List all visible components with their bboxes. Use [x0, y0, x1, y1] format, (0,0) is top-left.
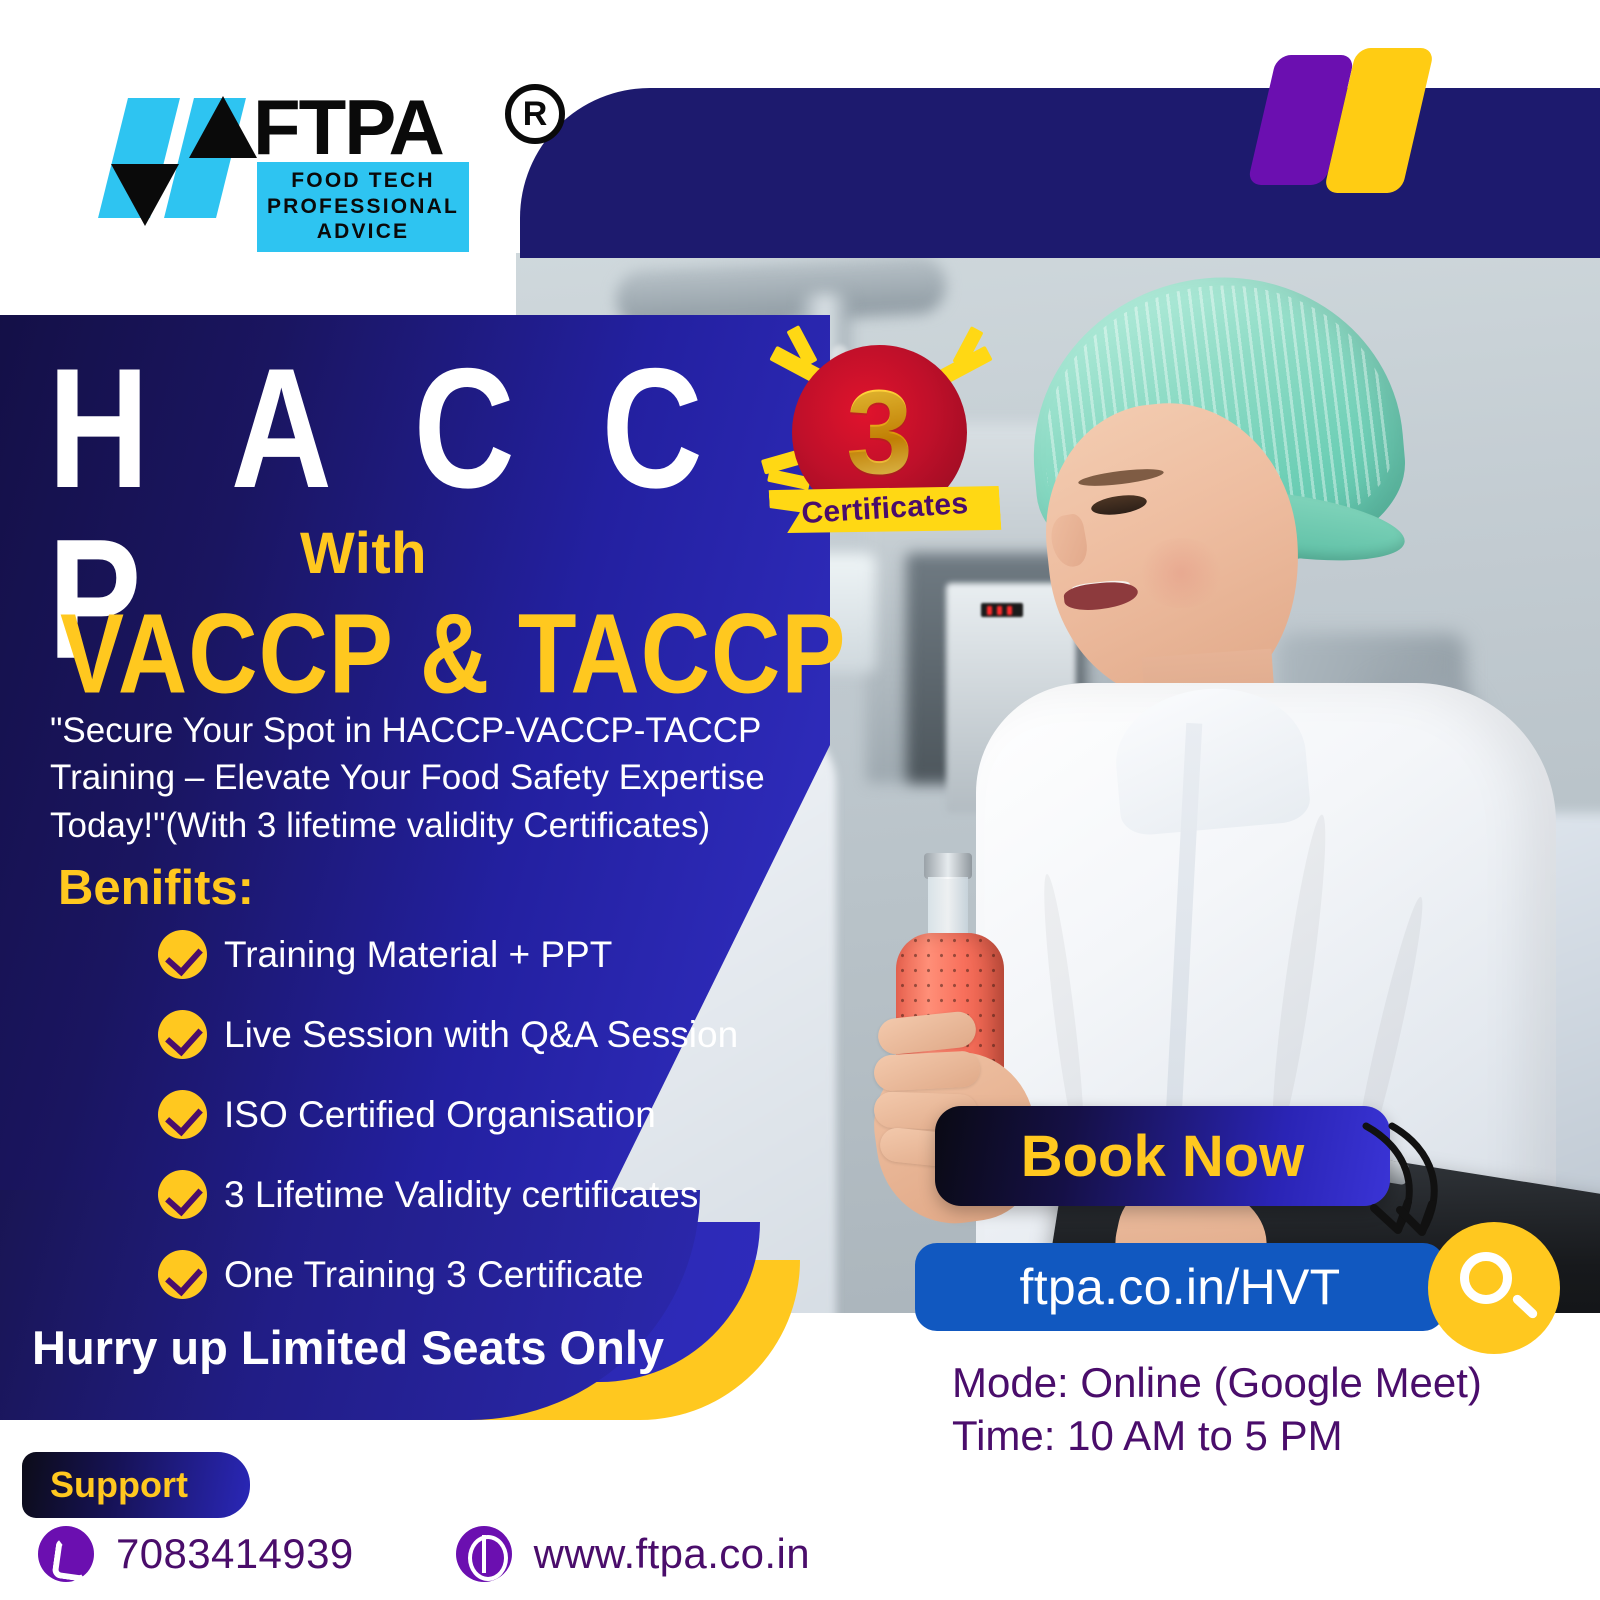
list-item: One Training 3 Certificate: [158, 1250, 858, 1299]
logo-triangle-down-icon: [111, 164, 179, 226]
session-details: Mode: Online (Google Meet) Time: 10 AM t…: [952, 1356, 1482, 1463]
ftpa-logo: FTPA R FOOD TECH PROFESSIONAL ADVICE: [105, 78, 485, 238]
check-circle-icon: [158, 1010, 207, 1059]
benefit-label: 3 Lifetime Validity certificates: [224, 1174, 698, 1216]
phone-icon: [38, 1526, 94, 1582]
support-label: Support: [50, 1464, 188, 1506]
check-circle-icon: [158, 1250, 207, 1299]
book-now-button[interactable]: Book Now: [935, 1106, 1390, 1206]
booking-url-bar[interactable]: ftpa.co.in/HVT: [915, 1243, 1445, 1331]
logo-tagline-line2: PROFESSIONAL: [263, 194, 463, 220]
headline-connector: With: [300, 520, 427, 587]
logo-triangle-up-icon: [189, 96, 257, 158]
registered-trademark-icon: R: [505, 84, 565, 144]
list-item: 3 Lifetime Validity certificates: [158, 1170, 858, 1219]
benefit-label: Live Session with Q&A Session: [224, 1014, 738, 1056]
check-circle-icon: [158, 1170, 207, 1219]
benefits-list: Training Material + PPT Live Session wit…: [158, 930, 858, 1330]
search-icon[interactable]: [1428, 1222, 1560, 1354]
list-item: Training Material + PPT: [158, 930, 858, 979]
mode-text: Mode: Online (Google Meet): [952, 1356, 1482, 1409]
check-circle-icon: [158, 1090, 207, 1139]
logo-mark-icon: [105, 88, 255, 224]
top-navy-band: [520, 88, 1600, 258]
benefit-label: One Training 3 Certificate: [224, 1254, 644, 1296]
logo-tagline: FOOD TECH PROFESSIONAL ADVICE: [257, 162, 469, 252]
logo-tagline-line1: FOOD TECH: [263, 168, 463, 194]
support-badge: Support: [22, 1452, 250, 1518]
headline-subtitle: VACCP & TACCP: [60, 590, 846, 720]
benefit-label: Training Material + PPT: [224, 934, 612, 976]
phone-number[interactable]: 7083414939: [116, 1530, 354, 1578]
curved-arrow-icon: [1352, 1122, 1462, 1247]
magnifier-handle: [1511, 1293, 1539, 1320]
benefit-label: ISO Certified Organisation: [224, 1094, 656, 1136]
magnifier-lens: [1460, 1252, 1512, 1304]
list-item: Live Session with Q&A Session: [158, 1010, 858, 1059]
certificates-badge: 3 Certificates: [752, 335, 1002, 560]
list-item: ISO Certified Organisation: [158, 1090, 858, 1139]
promo-description: "Secure Your Spot in HACCP-VACCP-TACCP T…: [50, 707, 810, 849]
benefits-heading: Benifits:: [58, 860, 254, 916]
globe-icon: [456, 1526, 512, 1582]
check-circle-icon: [158, 930, 207, 979]
urgency-text: Hurry up Limited Seats Only: [32, 1320, 664, 1375]
logo-tagline-line3: ADVICE: [263, 219, 463, 245]
badge-ribbon-label: Certificates: [801, 487, 970, 531]
book-now-label: Book Now: [1021, 1123, 1305, 1190]
time-text: Time: 10 AM to 5 PM: [952, 1409, 1482, 1462]
bottle-cap: [924, 853, 972, 879]
website-url[interactable]: www.ftpa.co.in: [534, 1530, 810, 1578]
cheek: [1136, 538, 1226, 608]
contact-row: 7083414939 www.ftpa.co.in: [38, 1526, 810, 1582]
logo-wordmark: FTPA: [253, 82, 443, 173]
booking-url: ftpa.co.in/HVT: [1020, 1258, 1341, 1316]
